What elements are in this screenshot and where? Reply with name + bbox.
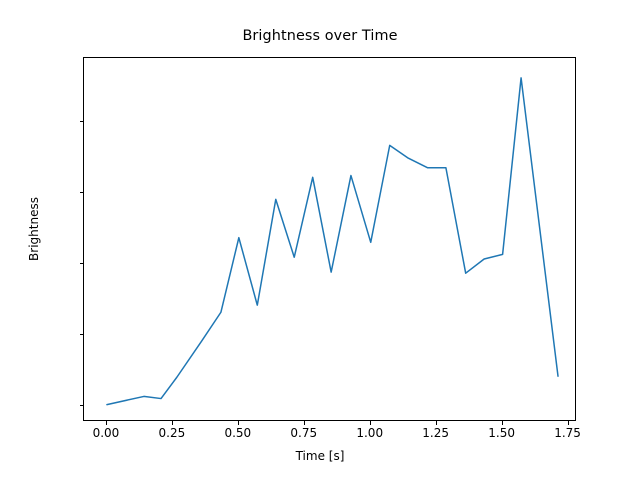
x-tick-label: 1.50 — [488, 426, 515, 440]
x-tick-mark — [436, 421, 437, 425]
y-tick-mark — [80, 192, 84, 193]
x-tick-mark — [370, 421, 371, 425]
x-tick-mark — [106, 421, 107, 425]
brightness-line — [107, 78, 558, 405]
x-tick-label: 1.00 — [356, 426, 383, 440]
x-tick-mark — [304, 421, 305, 425]
x-tick-label: 1.25 — [422, 426, 449, 440]
x-axis-label: Time [s] — [0, 449, 640, 463]
y-tick-mark — [80, 263, 84, 264]
page-title: Brightness over Time — [0, 28, 640, 44]
x-tick-label: 0.25 — [159, 426, 186, 440]
matplotlib-figure: Brightness over Time 0.000.250.500.751.0… — [0, 0, 640, 480]
x-tick-mark — [568, 421, 569, 425]
y-tick-mark — [80, 121, 84, 122]
x-tick-label: 1.75 — [554, 426, 581, 440]
y-tick-mark — [80, 405, 84, 406]
x-tick-label: 0.50 — [224, 426, 251, 440]
y-tick-mark — [80, 334, 84, 335]
x-tick-mark — [502, 421, 503, 425]
y-axis-label: Brightness — [27, 47, 41, 411]
x-tick-mark — [238, 421, 239, 425]
data-line-series — [84, 58, 577, 422]
x-tick-mark — [172, 421, 173, 425]
x-tick-label: 0.00 — [93, 426, 120, 440]
x-tick-label: 0.75 — [290, 426, 317, 440]
plot-area — [83, 57, 576, 421]
